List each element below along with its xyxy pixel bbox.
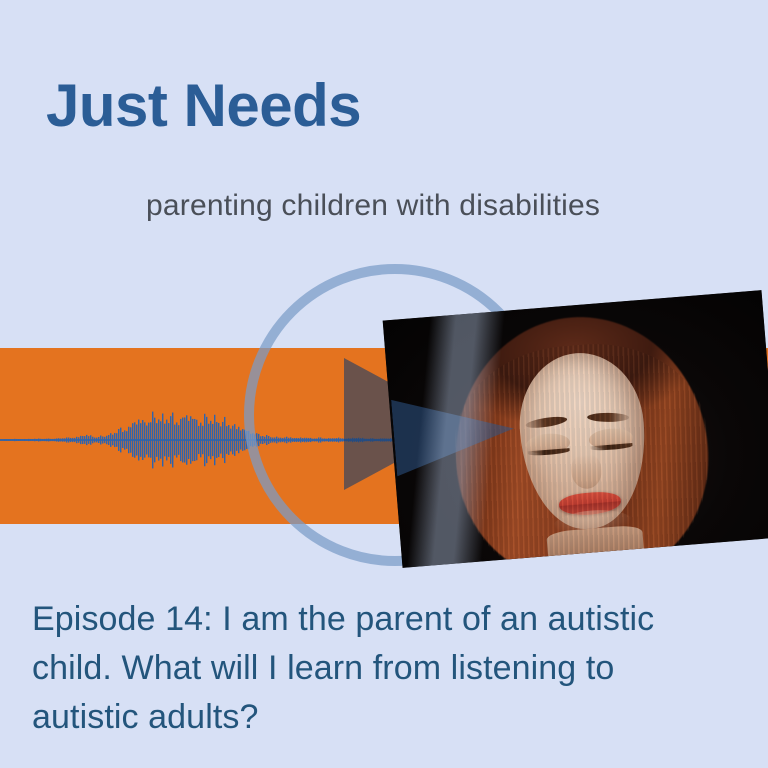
page-title: Just Needs <box>46 76 361 136</box>
guest-photo-image <box>383 290 768 568</box>
guest-photo <box>383 290 768 568</box>
podcast-episode-artwork: Just Needs parenting children with disab… <box>0 0 768 768</box>
episode-title: Episode 14: I am the parent of an autist… <box>32 595 692 742</box>
podcast-subtitle: parenting children with disabilities <box>146 191 600 221</box>
